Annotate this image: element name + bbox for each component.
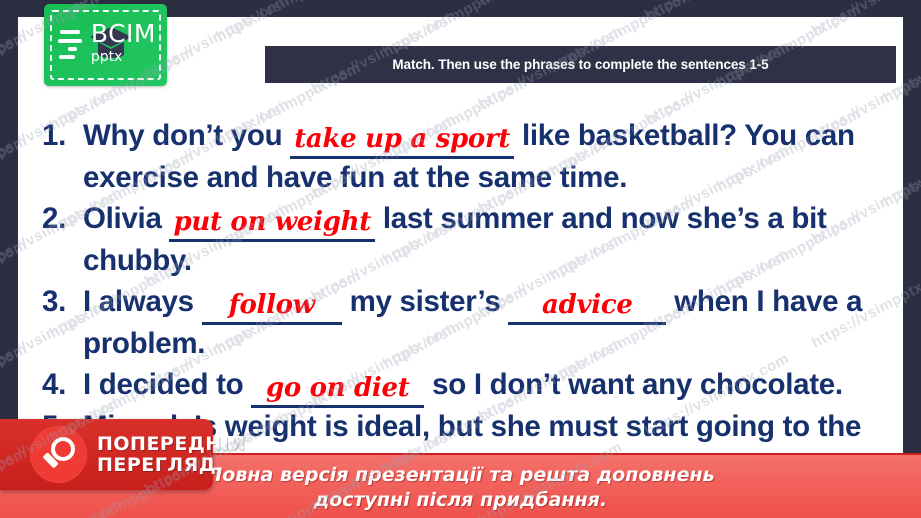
slide-canvas: 1. Why don’t you take up a sport like ba… (0, 0, 921, 518)
item-number: 1. (42, 115, 83, 156)
item-text: Why don’t you take up a sport like baske… (83, 115, 903, 198)
list-item: 2. Olivia put on weight last summer and … (42, 198, 903, 281)
answer-blank[interactable]: follow (202, 288, 342, 325)
logo-brand-sub: pptx (91, 50, 156, 64)
preview-badge-line-2: ПЕРЕГЛЯД (97, 455, 246, 476)
answer-blank[interactable]: put on weight (169, 205, 374, 242)
logo-brand-name: BCIM (91, 21, 156, 46)
item-text-before: Why don’t you (83, 119, 282, 152)
answer-blank[interactable]: take up a sport (290, 122, 514, 159)
item-text-before: Olivia (83, 202, 162, 235)
item-text-middle: my sister’s (350, 285, 501, 318)
item-number: 3. (42, 281, 83, 322)
item-text-after: so I don’t want any chocolate. (432, 368, 843, 401)
page-title: Match. Then use the phrases to complete … (392, 57, 768, 72)
item-number: 2. (42, 198, 83, 239)
preview-badge-line-1: ПОПЕРЕДНІЙ (97, 434, 246, 455)
list-item: 4. I decided to go on diet so I don’t wa… (42, 364, 903, 406)
preview-badge-labels: ПОПЕРЕДНІЙ ПЕРЕГЛЯД (97, 434, 246, 476)
answer-blank[interactable]: go on diet (251, 371, 424, 408)
slide-title-bar: Match. Then use the phrases to complete … (265, 46, 896, 83)
list-item: 3. I always follow my sister’s advice wh… (42, 281, 903, 364)
item-text-before: I decided to (83, 368, 243, 401)
item-text: Olivia put on weight last summer and now… (83, 198, 903, 281)
bcim-pptx-logo: BCIM pptx (44, 4, 167, 86)
magnifier-icon (30, 426, 87, 483)
banner-line-2: доступні після придбання. (314, 488, 607, 513)
answer-blank-secondary[interactable]: advice (508, 288, 666, 325)
item-number: 4. (42, 364, 83, 405)
preview-badge: ПОПЕРЕДНІЙ ПЕРЕГЛЯД (0, 419, 213, 490)
list-item: 1. Why don’t you take up a sport like ba… (42, 115, 903, 198)
speed-lines-icon (58, 30, 92, 60)
banner-line-1: Повна версія презентації та решта доповн… (206, 463, 714, 488)
item-text-before: I always (83, 285, 194, 318)
item-text: I always follow my sister’s advice when … (83, 281, 903, 364)
item-text: I decided to go on diet so I don’t want … (83, 364, 903, 406)
logo-brand: BCIM pptx (91, 21, 156, 64)
